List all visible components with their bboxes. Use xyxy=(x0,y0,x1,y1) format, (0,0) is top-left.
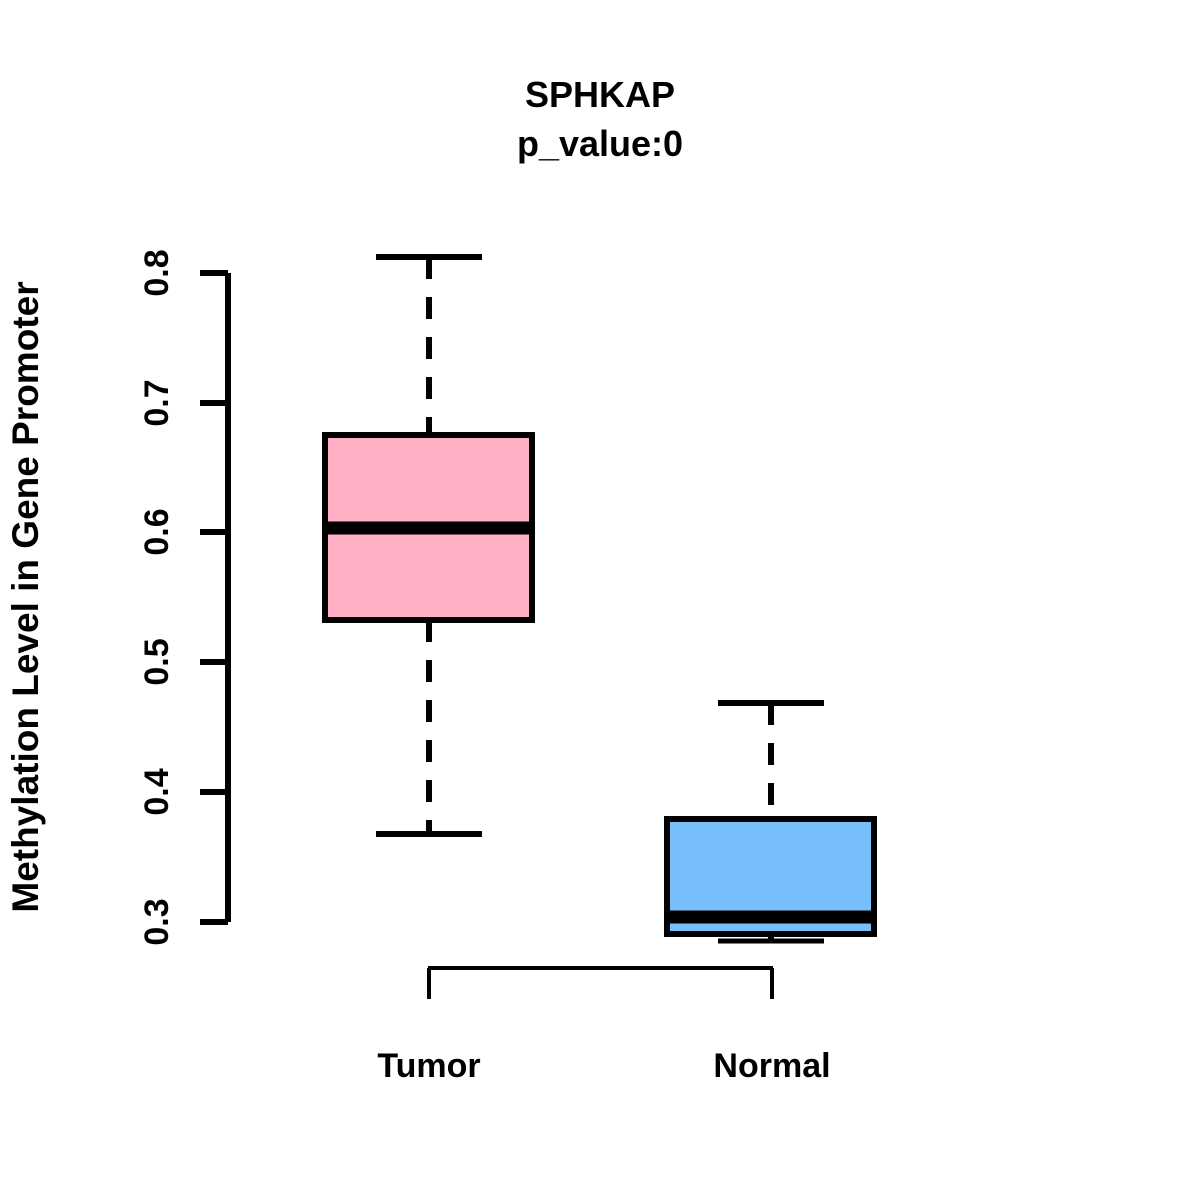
figure-background xyxy=(0,0,1200,1200)
x-axis-label-tumor: Tumor xyxy=(377,1047,480,1085)
y-tick-label-0.6: 0.6 xyxy=(138,508,176,555)
y-tick-label-0.7: 0.7 xyxy=(138,379,176,426)
y-tick-label-0.3: 0.3 xyxy=(138,898,176,945)
chart-subtitle: p_value:0 xyxy=(517,123,683,164)
y-axis-title: Methylation Level in Gene Promoter xyxy=(5,281,46,912)
y-tick-label-0.5: 0.5 xyxy=(138,638,176,685)
y-tick-label-0.8: 0.8 xyxy=(138,249,176,296)
chart-title: SPHKAP xyxy=(525,74,675,115)
y-tick-label-0.4: 0.4 xyxy=(138,768,176,815)
x-axis-label-normal: Normal xyxy=(713,1047,830,1085)
boxplot-figure: SPHKAP p_value:0 Methylation Level in Ge… xyxy=(0,0,1200,1200)
